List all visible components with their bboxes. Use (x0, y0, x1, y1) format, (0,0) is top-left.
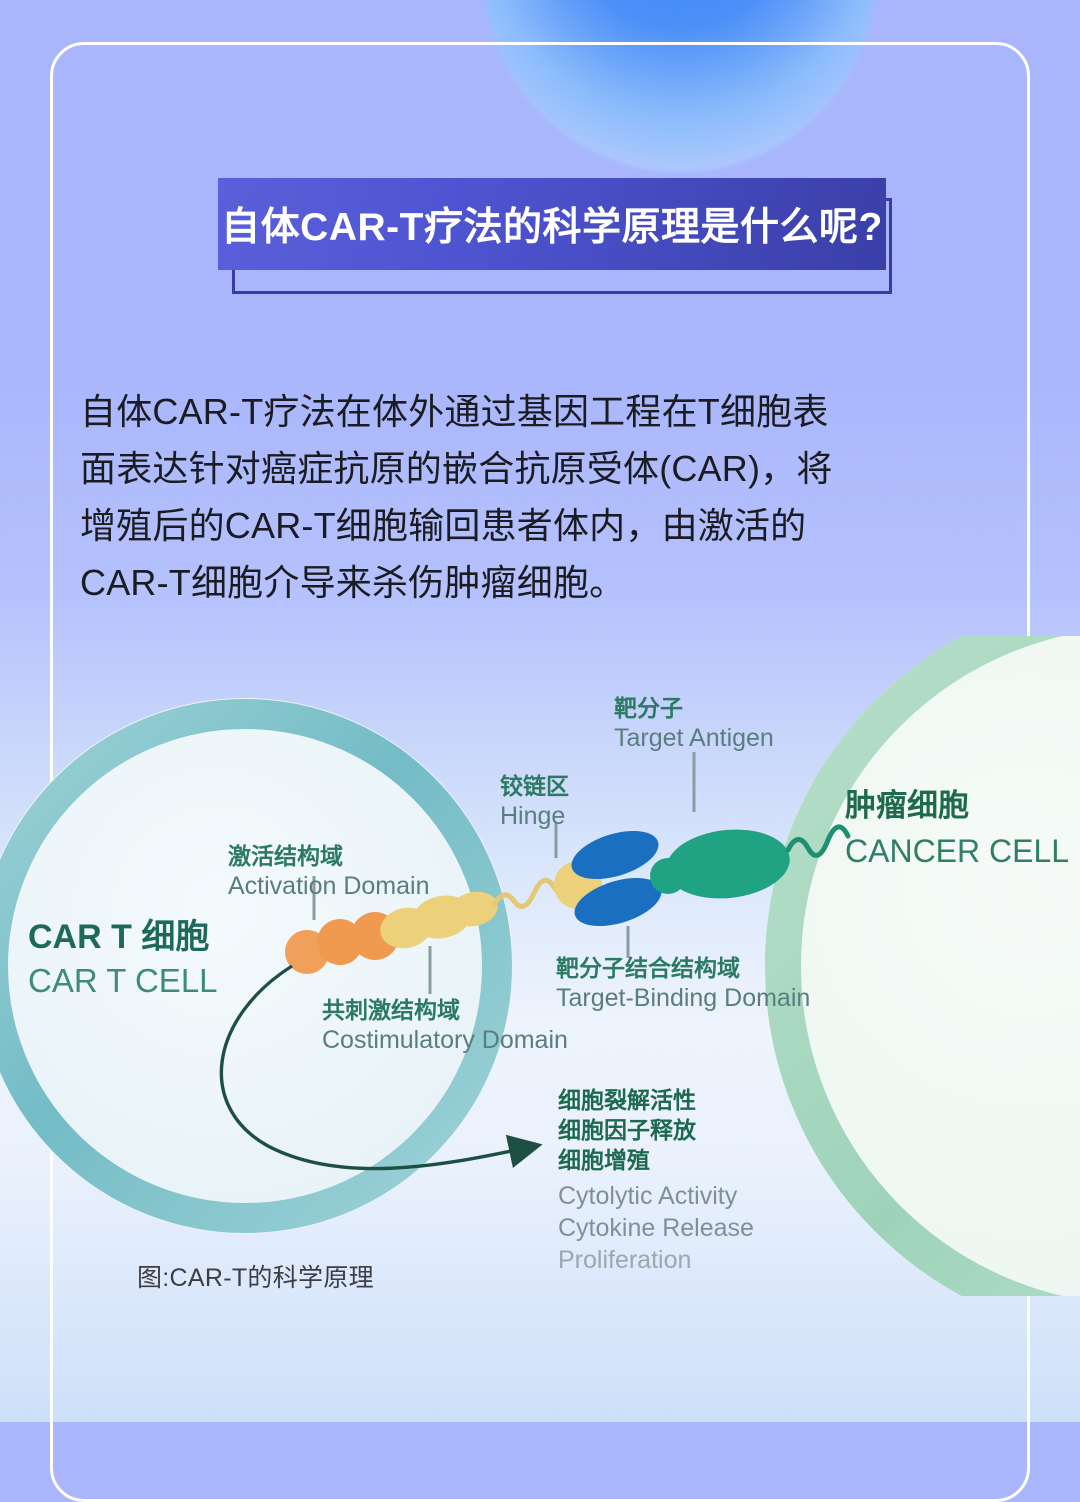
car-t-mechanism-diagram: CAR T 细胞 CAR T CELL 肿瘤细胞 CANCER CELL 激活结… (0, 636, 1080, 1296)
figure-caption: 图:CAR-T的科学原理 (137, 1258, 374, 1294)
effect-en-line-2: Proliferation (558, 1246, 691, 1274)
label-costimulatory-domain-cn: 共刺激结构域 (322, 997, 460, 1023)
label-target-binding-domain-en: Target-Binding Domain (556, 984, 810, 1012)
label-activation-domain-en: Activation Domain (228, 872, 429, 900)
cart-cell-title-en: CAR T CELL (28, 962, 218, 999)
title-banner: 自体CAR-T疗法的科学原理是什么呢? (218, 178, 886, 270)
cancer-cell-title-en: CANCER CELL (845, 833, 1069, 869)
label-hinge-en: Hinge (500, 802, 565, 830)
effect-cn-line-2: 细胞增殖 (558, 1147, 650, 1173)
effect-cn-line-0: 细胞裂解活性 (558, 1087, 696, 1113)
label-costimulatory-domain-en: Costimulatory Domain (322, 1026, 568, 1054)
effect-cn-line-1: 细胞因子释放 (558, 1117, 697, 1143)
effect-en-line-0: Cytolytic Activity (558, 1182, 738, 1210)
label-target-binding-domain-cn: 靶分子结合结构域 (556, 955, 740, 981)
effect-en-line-1: Cytokine Release (558, 1214, 754, 1242)
target-antigen-molecule (650, 824, 793, 905)
label-target-antigen-cn: 靶分子 (614, 695, 683, 721)
title-block: 自体CAR-T疗法的科学原理是什么呢? (218, 178, 918, 302)
body-paragraph: 自体CAR-T疗法在体外通过基因工程在T细胞表面表达针对癌症抗原的嵌合抗原受体(… (80, 383, 840, 611)
label-target-antigen-en: Target Antigen (614, 724, 774, 752)
cart-cell-title-cn: CAR T 细胞 (28, 918, 209, 956)
label-hinge-cn: 铰链区 (500, 773, 569, 799)
top-decorative-blob (484, 0, 876, 172)
cancer-cell-shape (765, 636, 1080, 1296)
label-activation-domain-cn: 激活结构域 (228, 843, 343, 869)
cancer-cell-title-cn: 肿瘤细胞 (845, 788, 969, 823)
page-title: 自体CAR-T疗法的科学原理是什么呢? (221, 196, 883, 252)
